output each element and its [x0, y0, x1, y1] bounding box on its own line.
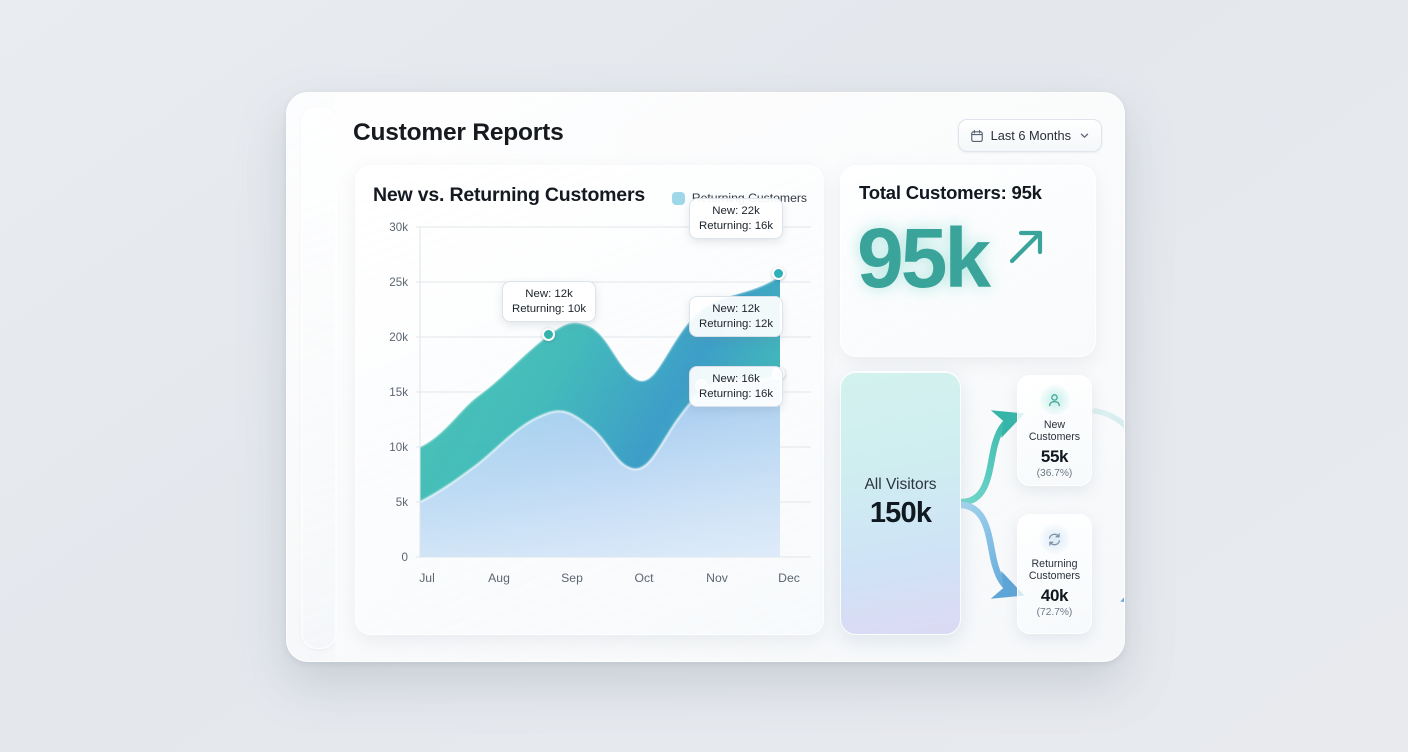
- returning-customers-percent: (72.7%): [1037, 607, 1073, 618]
- svg-text:15k: 15k: [389, 386, 408, 399]
- total-customers-label: Total Customers: 95k: [859, 182, 1042, 204]
- tooltip-returning-line: Returning: 16k: [699, 387, 773, 402]
- total-customers-card: Total Customers: 95k 95k: [840, 165, 1096, 357]
- tooltip-returning-line: Returning: 16k: [699, 219, 773, 234]
- total-customers-value: 95k: [857, 216, 988, 300]
- tooltip-returning-line: Returning: 10k: [512, 302, 586, 317]
- tooltip-returning-line: Returning: 12k: [699, 317, 773, 332]
- returning-customers-card[interactable]: Returning Customers 40k (72.7%): [1017, 514, 1092, 634]
- svg-text:Aug: Aug: [488, 571, 510, 585]
- area-chart-plot: 30k 25k 20k 15k 10k 5k 0: [368, 214, 811, 614]
- y-axis-labels: 30k 25k 20k 15k 10k 5k 0: [389, 221, 408, 564]
- user-icon: [1040, 385, 1070, 415]
- sidebar-rail[interactable]: [301, 107, 337, 649]
- new-customers-label-line2: Customers: [1029, 431, 1080, 443]
- arrow-new-to-returning-loop: [1095, 411, 1125, 598]
- x-axis-labels: Jul Aug Sep Oct Nov Dec: [419, 571, 800, 585]
- tooltip-new-line: New: 12k: [699, 302, 773, 317]
- arrow-visitors-to-new: [962, 417, 1015, 502]
- tooltip-new-line: New: 22k: [699, 204, 773, 219]
- data-point-dec-total[interactable]: [772, 267, 785, 280]
- returning-customers-label-line2: Customers: [1029, 570, 1080, 582]
- svg-text:30k: 30k: [389, 221, 408, 234]
- chevron-down-icon: [1078, 130, 1090, 141]
- tooltip-dec-top: New: 22k Returning: 16k: [689, 198, 783, 239]
- screenshot-root: Customer Reports Last 6 Months New: [0, 0, 1408, 752]
- new-customers-value: 55k: [1041, 447, 1068, 467]
- returning-customers-value: 40k: [1041, 586, 1068, 606]
- area-chart-svg: 30k 25k 20k 15k 10k 5k 0: [368, 214, 811, 614]
- svg-text:Dec: Dec: [778, 571, 800, 585]
- tooltip-dec-low: New: 16k Returning: 16k: [689, 366, 783, 407]
- svg-text:Oct: Oct: [635, 571, 655, 585]
- app-window: Customer Reports Last 6 Months New: [286, 92, 1125, 662]
- total-customers-value-row: 95k: [857, 216, 1052, 300]
- all-visitors-card[interactable]: All Visitors 150k: [840, 371, 961, 635]
- chart-card: New vs. Returning Customers Returning Cu…: [355, 165, 824, 635]
- returning-customers-label-line1: Returning: [1032, 558, 1078, 570]
- all-visitors-label: All Visitors: [864, 476, 936, 494]
- tooltip-dec-mid: New: 12k Returning: 12k: [689, 296, 783, 337]
- svg-text:20k: 20k: [389, 331, 408, 344]
- tooltip-new-line: New: 16k: [699, 372, 773, 387]
- new-customers-label-line1: New: [1044, 419, 1065, 431]
- arrow-up-right-icon: [1000, 221, 1052, 278]
- date-range-selector[interactable]: Last 6 Months: [958, 119, 1102, 152]
- chart-title: New vs. Returning Customers: [373, 184, 645, 207]
- svg-text:Jul: Jul: [419, 571, 435, 585]
- new-customers-card[interactable]: New Customers 55k (36.7%): [1017, 375, 1092, 486]
- tooltip-new-line: New: 12k: [512, 287, 586, 302]
- svg-text:Nov: Nov: [706, 571, 729, 585]
- svg-text:Sep: Sep: [561, 571, 583, 585]
- all-visitors-value: 150k: [870, 497, 931, 530]
- svg-text:5k: 5k: [396, 496, 408, 509]
- svg-text:25k: 25k: [389, 276, 408, 289]
- svg-text:0: 0: [402, 551, 408, 564]
- new-customers-percent: (36.7%): [1037, 468, 1073, 479]
- data-point-sep-total[interactable]: [542, 328, 555, 341]
- calendar-icon: [970, 129, 984, 143]
- date-range-label: Last 6 Months: [991, 128, 1071, 143]
- main-content: Customer Reports Last 6 Months New: [335, 93, 1124, 661]
- tooltip-sep: New: 12k Returning: 10k: [502, 281, 596, 322]
- legend-swatch-returning: [672, 192, 685, 205]
- page-title: Customer Reports: [353, 119, 564, 147]
- refresh-icon: [1040, 524, 1070, 554]
- svg-text:10k: 10k: [389, 441, 408, 454]
- arrow-visitors-to-returning: [962, 505, 1015, 592]
